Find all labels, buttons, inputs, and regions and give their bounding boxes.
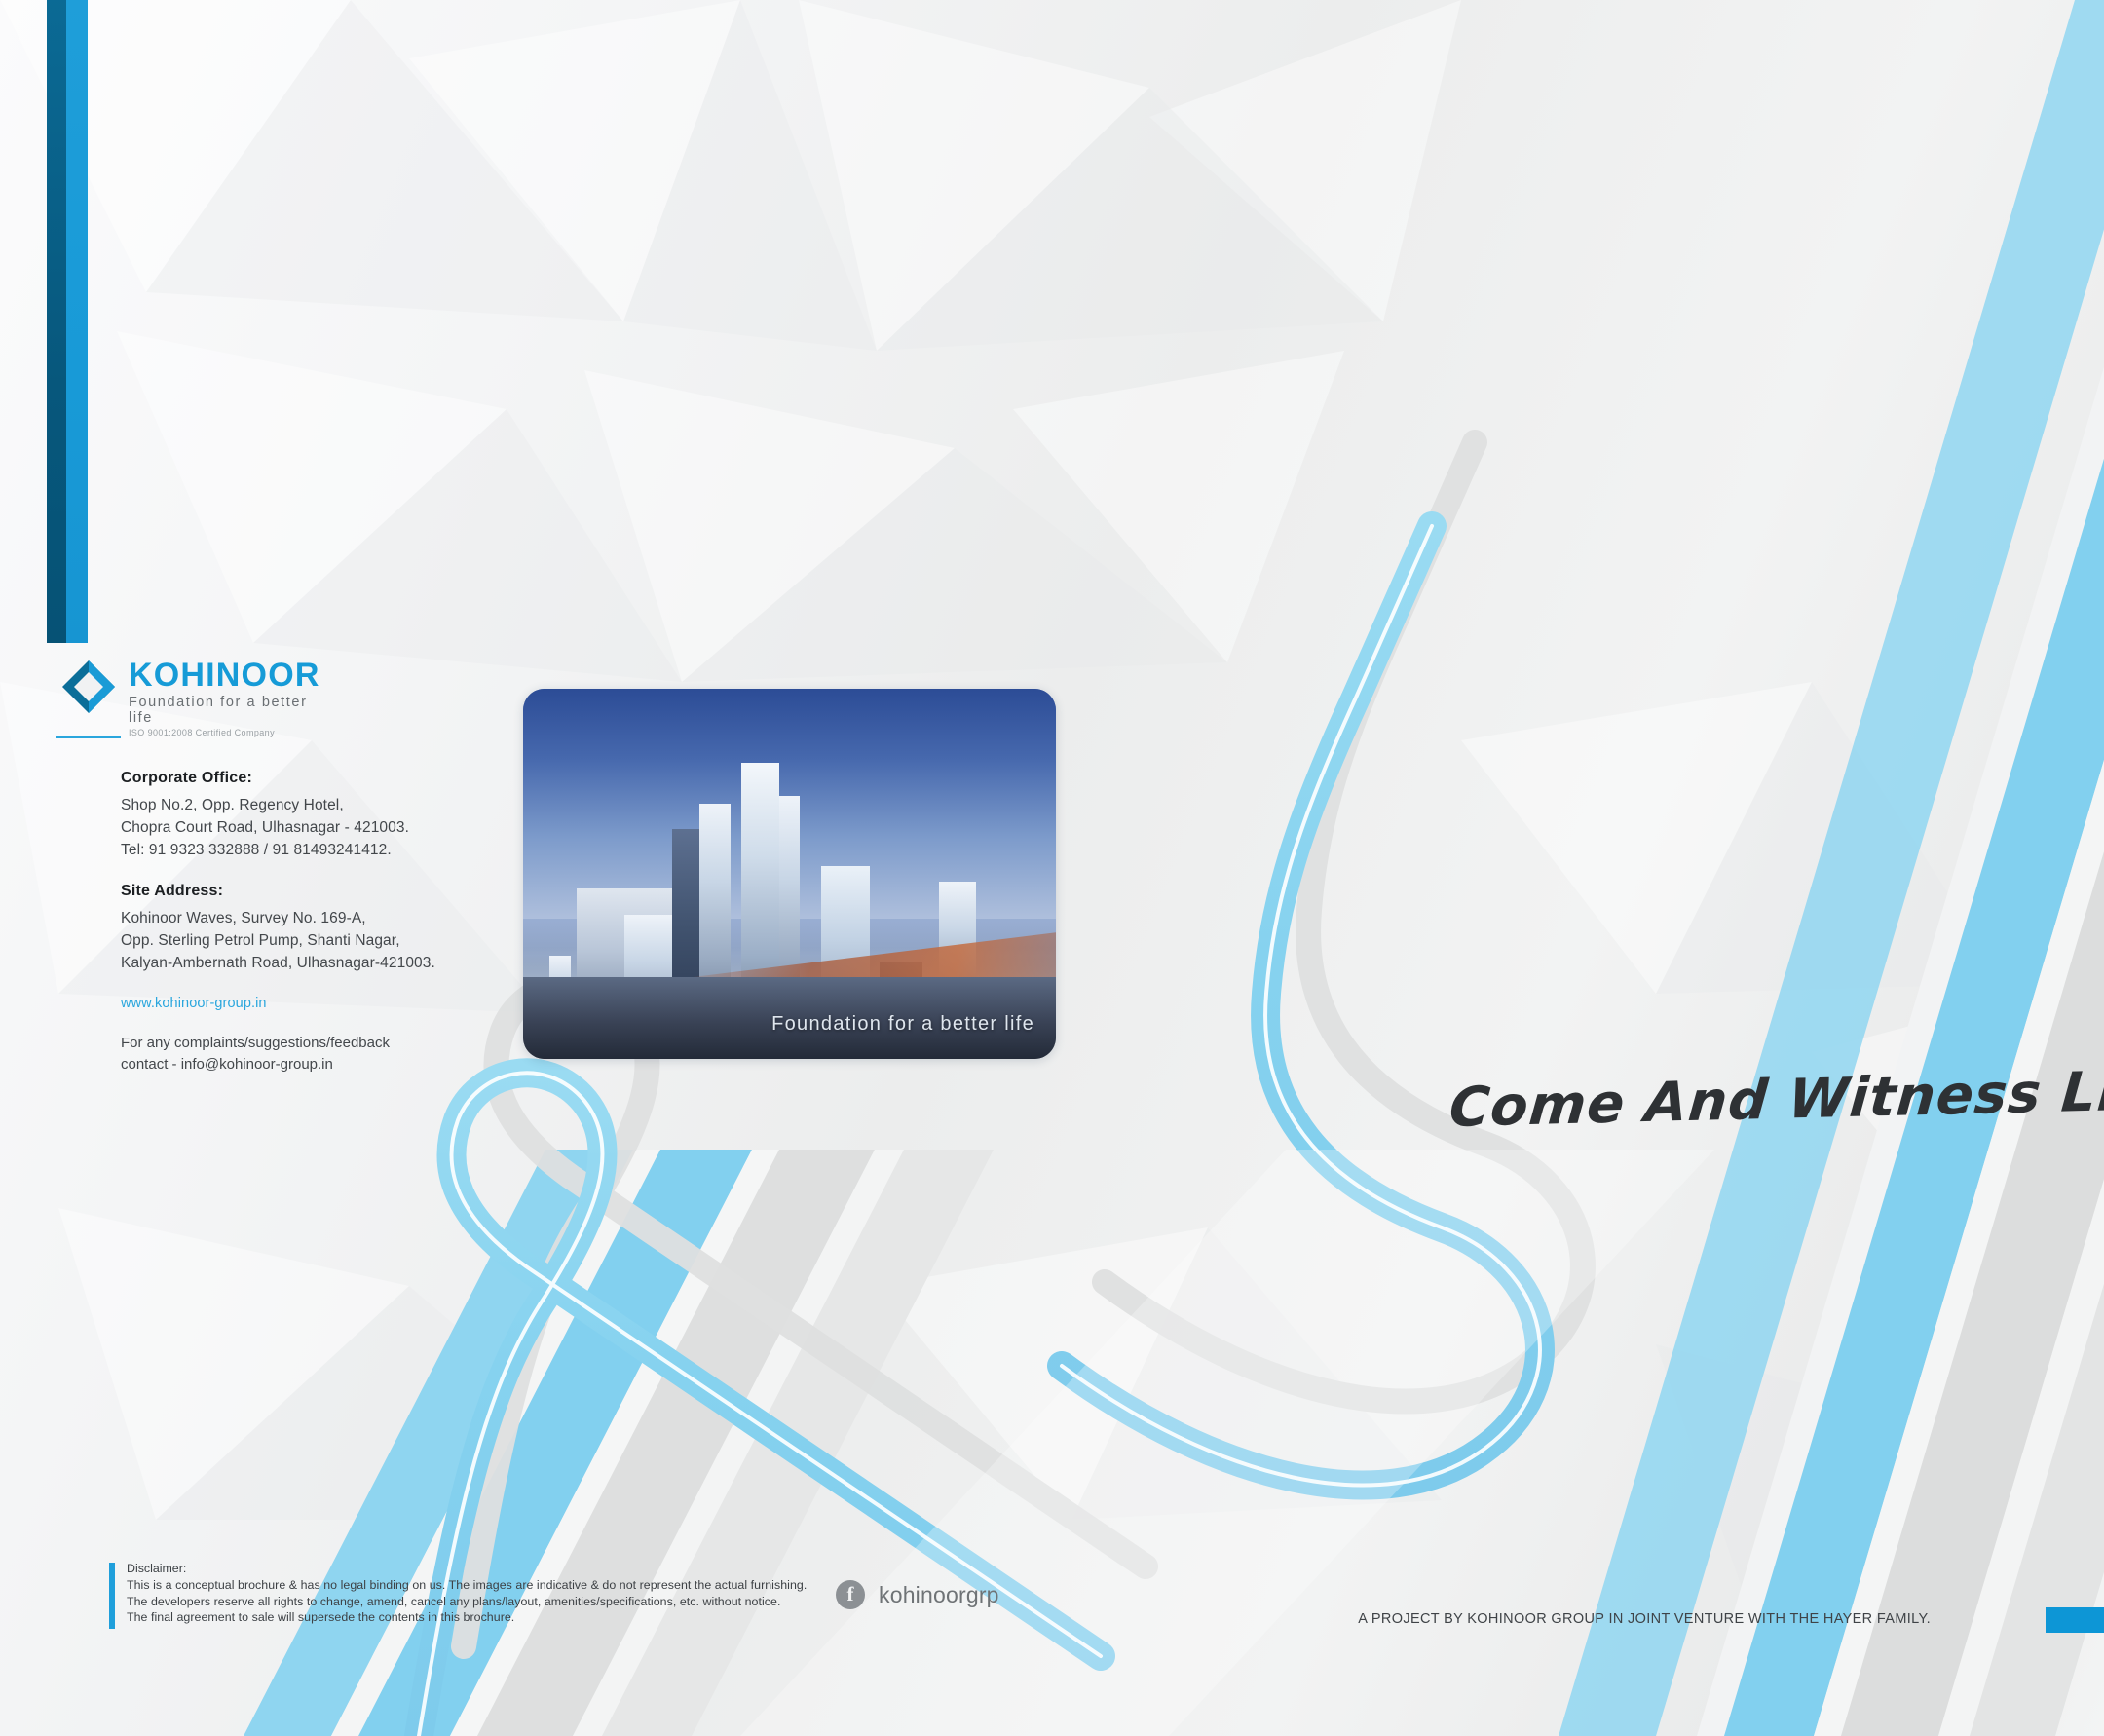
- website-link[interactable]: www.kohinoor-group.in: [121, 996, 540, 1011]
- site-address-line-2: Opp. Sterling Petrol Pump, Shanti Nagar,: [121, 929, 540, 952]
- spacer: [121, 974, 540, 996]
- brand-bar-dark-stripe: [47, 0, 66, 643]
- brand-iso-certification: ISO 9001:2008 Certified Company: [129, 728, 320, 737]
- project-rendering-photo: Foundation for a better life: [523, 689, 1056, 1059]
- disclaimer-body: Disclaimer: This is a conceptual brochur…: [127, 1561, 849, 1626]
- site-address-heading: Site Address:: [121, 883, 540, 900]
- corporate-office-heading: Corporate Office:: [121, 770, 540, 787]
- diamond-logo-icon: [56, 655, 121, 727]
- disclaimer-line-2: The developers reserve all rights to cha…: [127, 1594, 849, 1610]
- corporate-office-line-3: Tel: 91 9323 332888 / 91 81493241412.: [121, 839, 540, 861]
- spacer: [121, 1011, 540, 1033]
- disclaimer-block: Disclaimer: This is a conceptual brochur…: [109, 1561, 849, 1626]
- kohinoor-logo[interactable]: KOHINOOR Foundation for a better life IS…: [56, 655, 319, 744]
- feedback-line-1: For any complaints/suggestions/feedback: [121, 1033, 540, 1054]
- facebook-handle: kohinoorgrp: [879, 1582, 999, 1608]
- brochure-back-cover: KOHINOOR Foundation for a better life IS…: [0, 0, 2104, 1736]
- disclaimer-accent-bar: [109, 1563, 115, 1629]
- corporate-office-line-2: Chopra Court Road, Ulhasnagar - 421003.: [121, 816, 540, 839]
- brand-name: KOHINOOR: [129, 659, 320, 692]
- brand-vertical-bar: [47, 0, 88, 643]
- facebook-icon: [836, 1580, 865, 1609]
- facebook-social-link[interactable]: kohinoorgrp: [836, 1580, 999, 1609]
- credit-accent-box: [2046, 1607, 2104, 1633]
- site-address-line-1: Kohinoor Waves, Survey No. 169-A,: [121, 907, 540, 929]
- project-credit-line: A PROJECT BY KOHINOOR GROUP IN JOINT VEN…: [1358, 1611, 1931, 1627]
- brand-tagline: Foundation for a better life: [129, 695, 320, 726]
- disclaimer-line-1: This is a conceptual brochure & has no l…: [127, 1577, 849, 1594]
- disclaimer-heading: Disclaimer:: [127, 1561, 849, 1577]
- disclaimer-line-3: The final agreement to sale will superse…: [127, 1609, 849, 1626]
- feedback-email[interactable]: contact - info@kohinoor-group.in: [121, 1054, 540, 1076]
- photo-caption: Foundation for a better life: [771, 1013, 1034, 1036]
- site-address-line-3: Kalyan-Ambernath Road, Ulhasnagar-421003…: [121, 952, 540, 974]
- logo-underline: [56, 736, 121, 738]
- contact-block: Corporate Office: Shop No.2, Opp. Regenc…: [121, 770, 540, 1076]
- brand-bar-light-stripe: [66, 0, 88, 643]
- logo-wordmark: KOHINOOR Foundation for a better life IS…: [129, 659, 320, 737]
- tagline-text: Come And Witness Life...: [1446, 1057, 2104, 1140]
- spacer: [121, 861, 540, 883]
- corporate-office-line-1: Shop No.2, Opp. Regency Hotel,: [121, 794, 540, 816]
